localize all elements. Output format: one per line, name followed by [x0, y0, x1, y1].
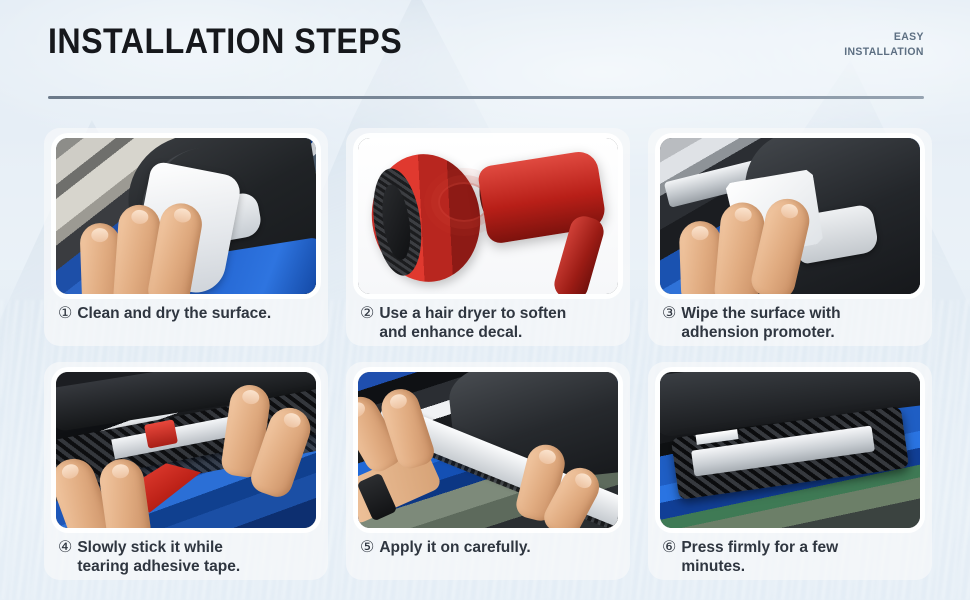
step-number-2: ②: [360, 304, 374, 323]
hand: [674, 185, 827, 294]
fingernail: [241, 389, 260, 405]
step-card-4: ④ Slowly stick it while tearing adhesive…: [44, 362, 328, 588]
step-photo-5: [358, 372, 618, 528]
step-text-6: Press firmly for a few minutes.: [681, 538, 924, 576]
step-text-line-2: and enhance decal.: [379, 323, 622, 342]
eyebrow-label: EASY INSTALLATION: [844, 30, 924, 60]
fingernail: [173, 207, 192, 224]
fingernail: [60, 462, 81, 481]
step-card-1: ① Clean and dry the surface.: [44, 128, 328, 354]
step-text-2: Use a hair dryer to soften and enhance d…: [379, 304, 622, 342]
step-text-line-1: Press firmly for a few: [681, 539, 838, 556]
header-divider: [48, 96, 924, 99]
fingernail: [537, 448, 557, 466]
finger: [97, 456, 153, 528]
step-photo-1: [56, 138, 316, 294]
step-text-line-1: Clean and dry the surface.: [77, 305, 271, 322]
step-card-5: ⑤ Apply it on carefully.: [346, 362, 630, 588]
step-caption-5: ⑤ Apply it on carefully.: [360, 538, 622, 557]
step-text-line-1: Slowly stick it while: [77, 539, 223, 556]
step-text-1: Clean and dry the surface.: [77, 304, 320, 323]
step-card-6: ⑥ Press firmly for a few minutes.: [648, 362, 932, 588]
step-number-4: ④: [58, 538, 72, 557]
eyebrow-line-2: INSTALLATION: [844, 45, 924, 60]
step-text-line-1: Apply it on carefully.: [379, 539, 530, 556]
fingernail: [131, 209, 149, 224]
step-caption-4: ④ Slowly stick it while tearing adhesive…: [58, 538, 320, 576]
step-number-1: ①: [58, 304, 72, 323]
steps-grid: ① Clean and dry the surface. ② Use a hai…: [44, 128, 932, 580]
step-text-line-1: Use a hair dryer to soften: [379, 305, 566, 322]
fingernail: [358, 399, 368, 420]
hand: [76, 191, 220, 294]
step-text-line-2: adhension promoter.: [681, 323, 924, 342]
fingernail: [388, 392, 408, 411]
fingernail: [691, 226, 708, 241]
step-text-3: Wipe the surface with adhension promoter…: [681, 304, 924, 342]
step-caption-1: ① Clean and dry the surface.: [58, 304, 320, 323]
step-photo-4: [56, 372, 316, 528]
step-text-4: Slowly stick it while tearing adhesive t…: [77, 538, 320, 576]
step-card-3: ③ Wipe the surface with adhension promot…: [648, 128, 932, 354]
step-photo-6: [660, 372, 920, 528]
page-title: INSTALLATION STEPS: [48, 22, 402, 62]
step-number-5: ⑤: [360, 538, 374, 557]
fingernail: [734, 207, 752, 222]
step-text-line-2: tearing adhesive tape.: [77, 557, 320, 576]
step-number-6: ⑥: [662, 538, 676, 557]
step-caption-6: ⑥ Press firmly for a few minutes.: [662, 538, 924, 576]
step-text-line-2: minutes.: [681, 557, 924, 576]
fingernail: [780, 202, 800, 219]
fingernail: [282, 411, 303, 430]
step-card-2: ② Use a hair dryer to soften and enhance…: [346, 128, 630, 354]
step-text-line-1: Wipe the surface with: [681, 305, 840, 322]
step-text-5: Apply it on carefully.: [379, 538, 622, 557]
step-caption-3: ③ Wipe the surface with adhension promot…: [662, 304, 924, 342]
step-photo-3: [660, 138, 920, 294]
step-caption-2: ② Use a hair dryer to soften and enhance…: [360, 304, 622, 342]
step-photo-2: [358, 138, 618, 294]
fingernail: [573, 471, 595, 491]
page-header: INSTALLATION STEPS EASY INSTALLATION: [0, 0, 970, 112]
fingernail: [91, 228, 108, 243]
step-number-3: ③: [662, 304, 676, 323]
fingernail: [111, 463, 130, 479]
eyebrow-line-1: EASY: [844, 30, 924, 45]
